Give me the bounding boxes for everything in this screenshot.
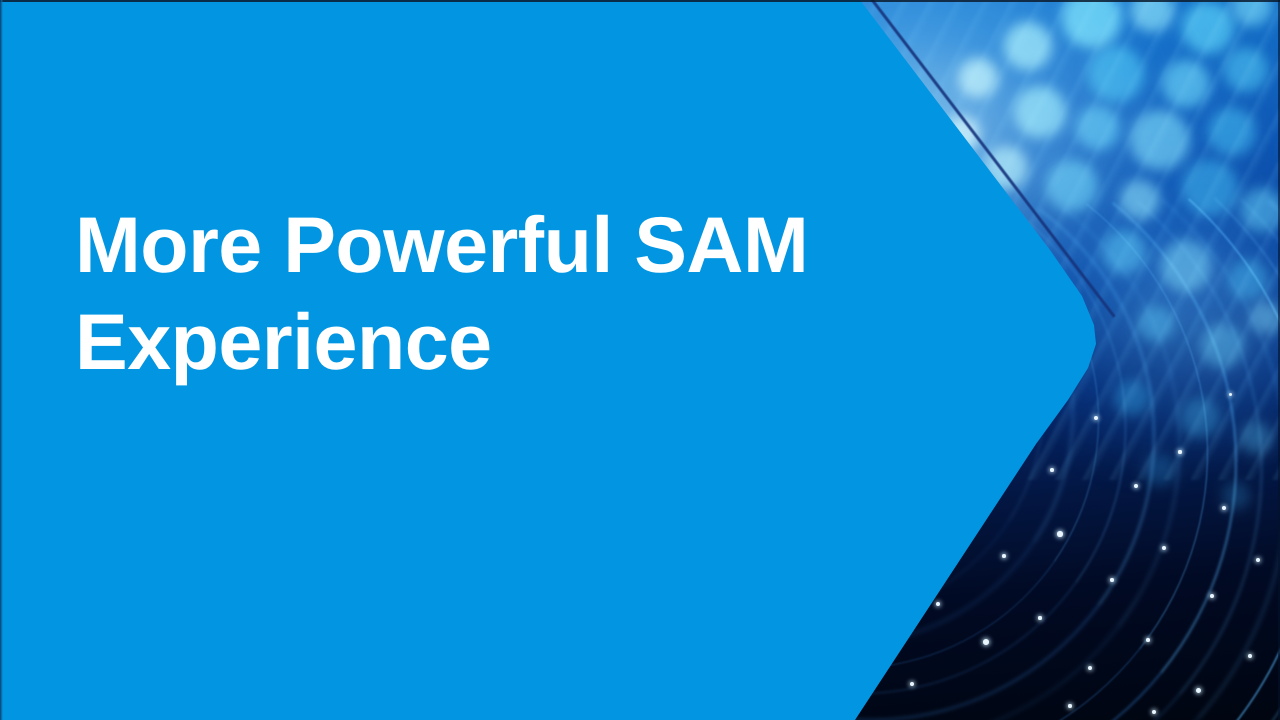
title-block: More Powerful SAM Experience — [75, 196, 835, 390]
slide-canvas: More Powerful SAM Experience — [0, 0, 1280, 720]
slide-title: More Powerful SAM Experience — [75, 196, 835, 390]
chevron-edge-seam — [852, 0, 1116, 318]
letterbox-top-edge — [0, 0, 1280, 2]
letterbox-left-edge — [0, 0, 3, 720]
